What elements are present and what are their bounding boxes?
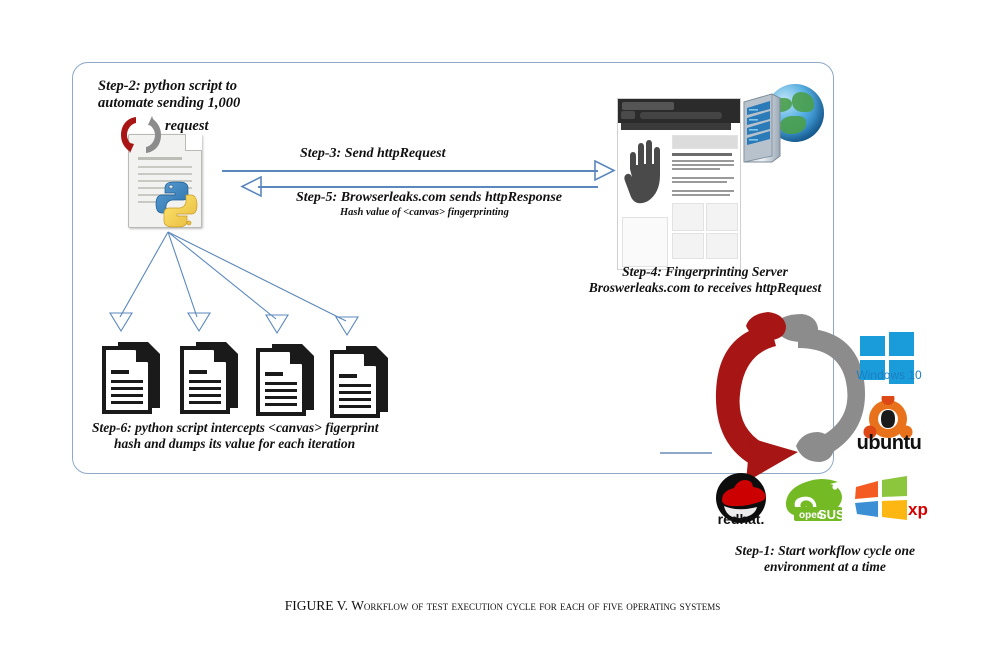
cycle-connector-line [660, 452, 712, 454]
windows-xp-logo-icon [852, 476, 910, 522]
browser-back-button [621, 111, 635, 119]
step6-line1: Step-6: python script intercepts <canvas… [92, 420, 422, 436]
figure-caption-text: Workflow of test execution cycle for eac… [351, 598, 720, 613]
document-stack-icon [254, 340, 316, 418]
sidebar-panel [622, 217, 668, 267]
step6-line2: hash and dumps its value for each iterat… [92, 436, 422, 452]
python-logo-icon [154, 180, 206, 230]
step4-line2: Broswerleaks.com to receives httpRequest [560, 280, 850, 296]
step1-line2: environment at a time [700, 559, 950, 575]
browser-tab [622, 102, 674, 110]
page-fold-corner [185, 134, 202, 151]
arrow-head-left-icon [240, 176, 262, 198]
step2-caption: Step-2: python script to automate sendin… [98, 78, 313, 112]
server-tower-icon [738, 92, 784, 166]
step1-line1: Step-1: Start workflow cycle one [700, 543, 950, 559]
arrow-head-right-icon [594, 160, 616, 182]
ubuntu-label: ubuntu [845, 432, 933, 455]
http-request-arrow-line [222, 170, 598, 172]
windows-xp-label: xp [908, 500, 928, 520]
step2-line1: Step-2: python script to [98, 78, 313, 95]
document-stack-icon [100, 338, 162, 416]
step2-line2: automate sending 1,000 [98, 95, 313, 112]
step5-label: Step-5: Browserleaks.com sends httpRespo… [296, 190, 562, 207]
step5-sublabel: Hash value of <canvas> fingerprinting [340, 207, 509, 219]
step3-label: Step-3: Send httpRequest [300, 146, 445, 163]
opensuse-suse-text: SUSE [818, 507, 850, 522]
step4-caption: Step-4: Fingerprinting Server Broswerlea… [560, 264, 850, 296]
hand-fingerprint-logo-icon [622, 135, 668, 213]
windows-10-label: Windows 10 [855, 368, 923, 382]
browserleaks-page-screenshot [617, 98, 741, 270]
step4-line1: Step-4: Fingerprinting Server [560, 264, 850, 280]
browser-url-bar [640, 112, 722, 119]
refresh-cycle-icon [116, 112, 170, 158]
document-stack-icon [178, 338, 240, 416]
step1-caption: Step-1: Start workflow cycle one environ… [700, 543, 950, 575]
redhat-label: redhat. [706, 511, 776, 527]
step6-caption: Step-6: python script intercepts <canvas… [92, 420, 422, 452]
browser-chrome-bar [618, 99, 740, 123]
opensuse-logo-icon: open SUSE [778, 474, 850, 524]
browser-bookmarks-bar [621, 123, 731, 130]
figure-number: FIGURE V. [285, 598, 348, 613]
python-script-document-icon [120, 128, 208, 230]
site-logo-placeholder [672, 135, 738, 149]
figure-caption: FIGURE V. Workflow of test execution cyc… [0, 598, 1005, 614]
fanout-arrows [80, 225, 420, 345]
http-response-arrow-line [258, 186, 598, 188]
document-stack-icon [328, 342, 390, 420]
